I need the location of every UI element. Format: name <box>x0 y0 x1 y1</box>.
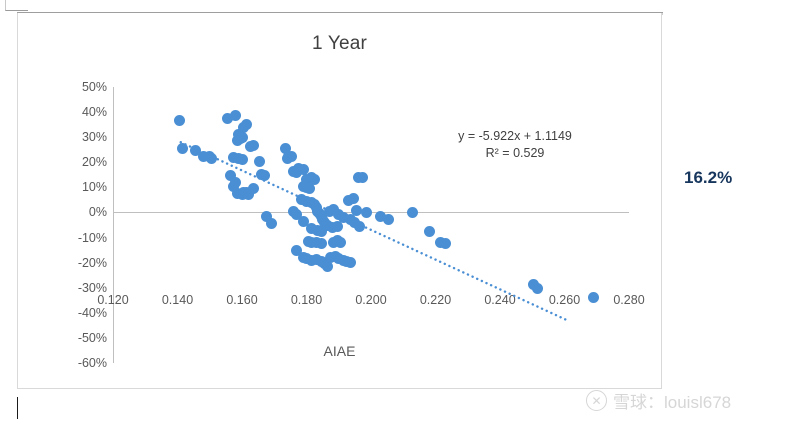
scatter-point <box>383 214 394 225</box>
scatter-point <box>248 183 259 194</box>
y-axis-tick-label: -40% <box>61 307 107 319</box>
scatter-point <box>316 238 327 249</box>
y-axis-tick-label: -30% <box>61 282 107 294</box>
scatter-point <box>230 110 241 121</box>
scatter-point <box>588 292 599 303</box>
scatter-point <box>424 226 435 237</box>
trendline-equation-box: y = -5.922x + 1.1149 R² = 0.529 <box>415 128 615 162</box>
side-value-label: 16.2% <box>684 168 732 188</box>
text-caret <box>17 397 18 419</box>
y-axis-tick-label: 40% <box>61 106 107 118</box>
xueqiu-logo-icon: ✕ <box>586 390 607 411</box>
scatter-point <box>335 237 346 248</box>
y-axis-tick-label: 10% <box>61 181 107 193</box>
chart-title: 1 Year <box>17 33 662 55</box>
scatter-point <box>361 207 372 218</box>
scatter-point <box>254 156 265 167</box>
scatter-point <box>174 115 185 126</box>
scatter-point <box>230 177 241 188</box>
watermark-text: 雪球：louisl678 <box>613 388 731 413</box>
y-axis-tick-label: 0% <box>61 206 107 218</box>
scatter-point <box>206 153 217 164</box>
scatter-point <box>407 207 418 218</box>
y-axis-tick-label: 30% <box>61 131 107 143</box>
scatter-point <box>177 143 188 154</box>
scatter-point <box>348 193 359 204</box>
trendline-equation: y = -5.922x + 1.1149 <box>415 128 615 145</box>
y-axis-tick-label: 50% <box>61 81 107 93</box>
scatter-point <box>309 174 320 185</box>
scatter-point <box>532 283 543 294</box>
scatter-point <box>357 172 368 183</box>
scatter-point <box>266 218 277 229</box>
document-corner-mark <box>5 0 28 11</box>
y-axis-tick-label: -20% <box>61 257 107 269</box>
scatter-point <box>440 238 451 249</box>
y-axis-tick-label: -10% <box>61 232 107 244</box>
scatter-point <box>286 151 297 162</box>
scatter-point <box>248 140 259 151</box>
scatter-point <box>232 135 243 146</box>
trendline-r-squared: R² = 0.529 <box>415 145 615 162</box>
scatter-point <box>354 221 365 232</box>
scatter-point <box>259 170 270 181</box>
y-axis-tick-label: -50% <box>61 332 107 344</box>
y-axis-tick-label: 20% <box>61 156 107 168</box>
scatter-point <box>345 257 356 268</box>
y-axis-tick-label: -60% <box>61 357 107 369</box>
scatter-point <box>316 226 327 237</box>
scatter-point <box>241 119 252 130</box>
scatter-chart[interactable]: 1 Year 沪深300 一年回报 AIAE 50%40%30%20%10%0%… <box>17 13 662 389</box>
scatter-point <box>237 154 248 165</box>
watermark: ✕ 雪球：louisl678 <box>586 388 731 413</box>
